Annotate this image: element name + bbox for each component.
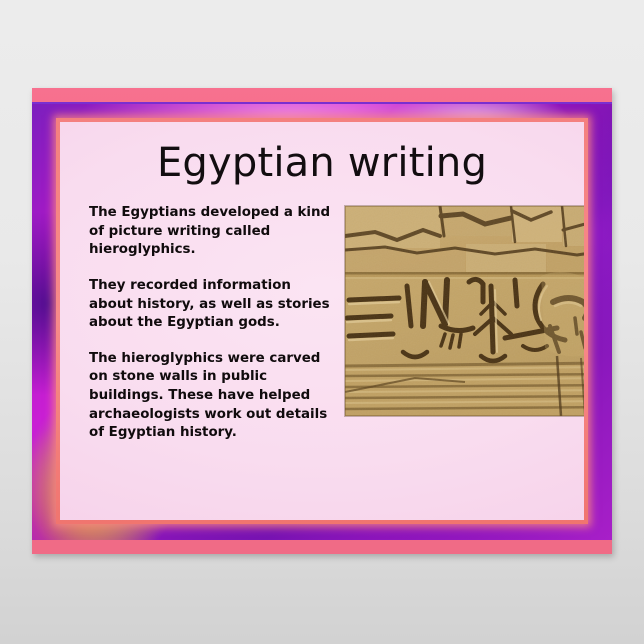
poster-border-hairline xyxy=(32,102,612,104)
poster-text-column: The Egyptians developed a kind of pictur… xyxy=(89,204,339,443)
page-title: Egyptian writing xyxy=(60,122,584,184)
poster-body: The Egyptians developed a kind of pictur… xyxy=(60,204,584,520)
poster-content-card: Egyptian writing The Egyptians developed… xyxy=(60,122,584,520)
paragraph-1: The Egyptians developed a kind of pictur… xyxy=(89,204,339,260)
poster: Egyptian writing The Egyptians developed… xyxy=(32,88,612,554)
paragraph-3: The hieroglyphics were carved on stone w… xyxy=(89,350,339,443)
hieroglyphics-photo xyxy=(345,206,584,416)
paragraph-2: They recorded information about history,… xyxy=(89,277,339,333)
